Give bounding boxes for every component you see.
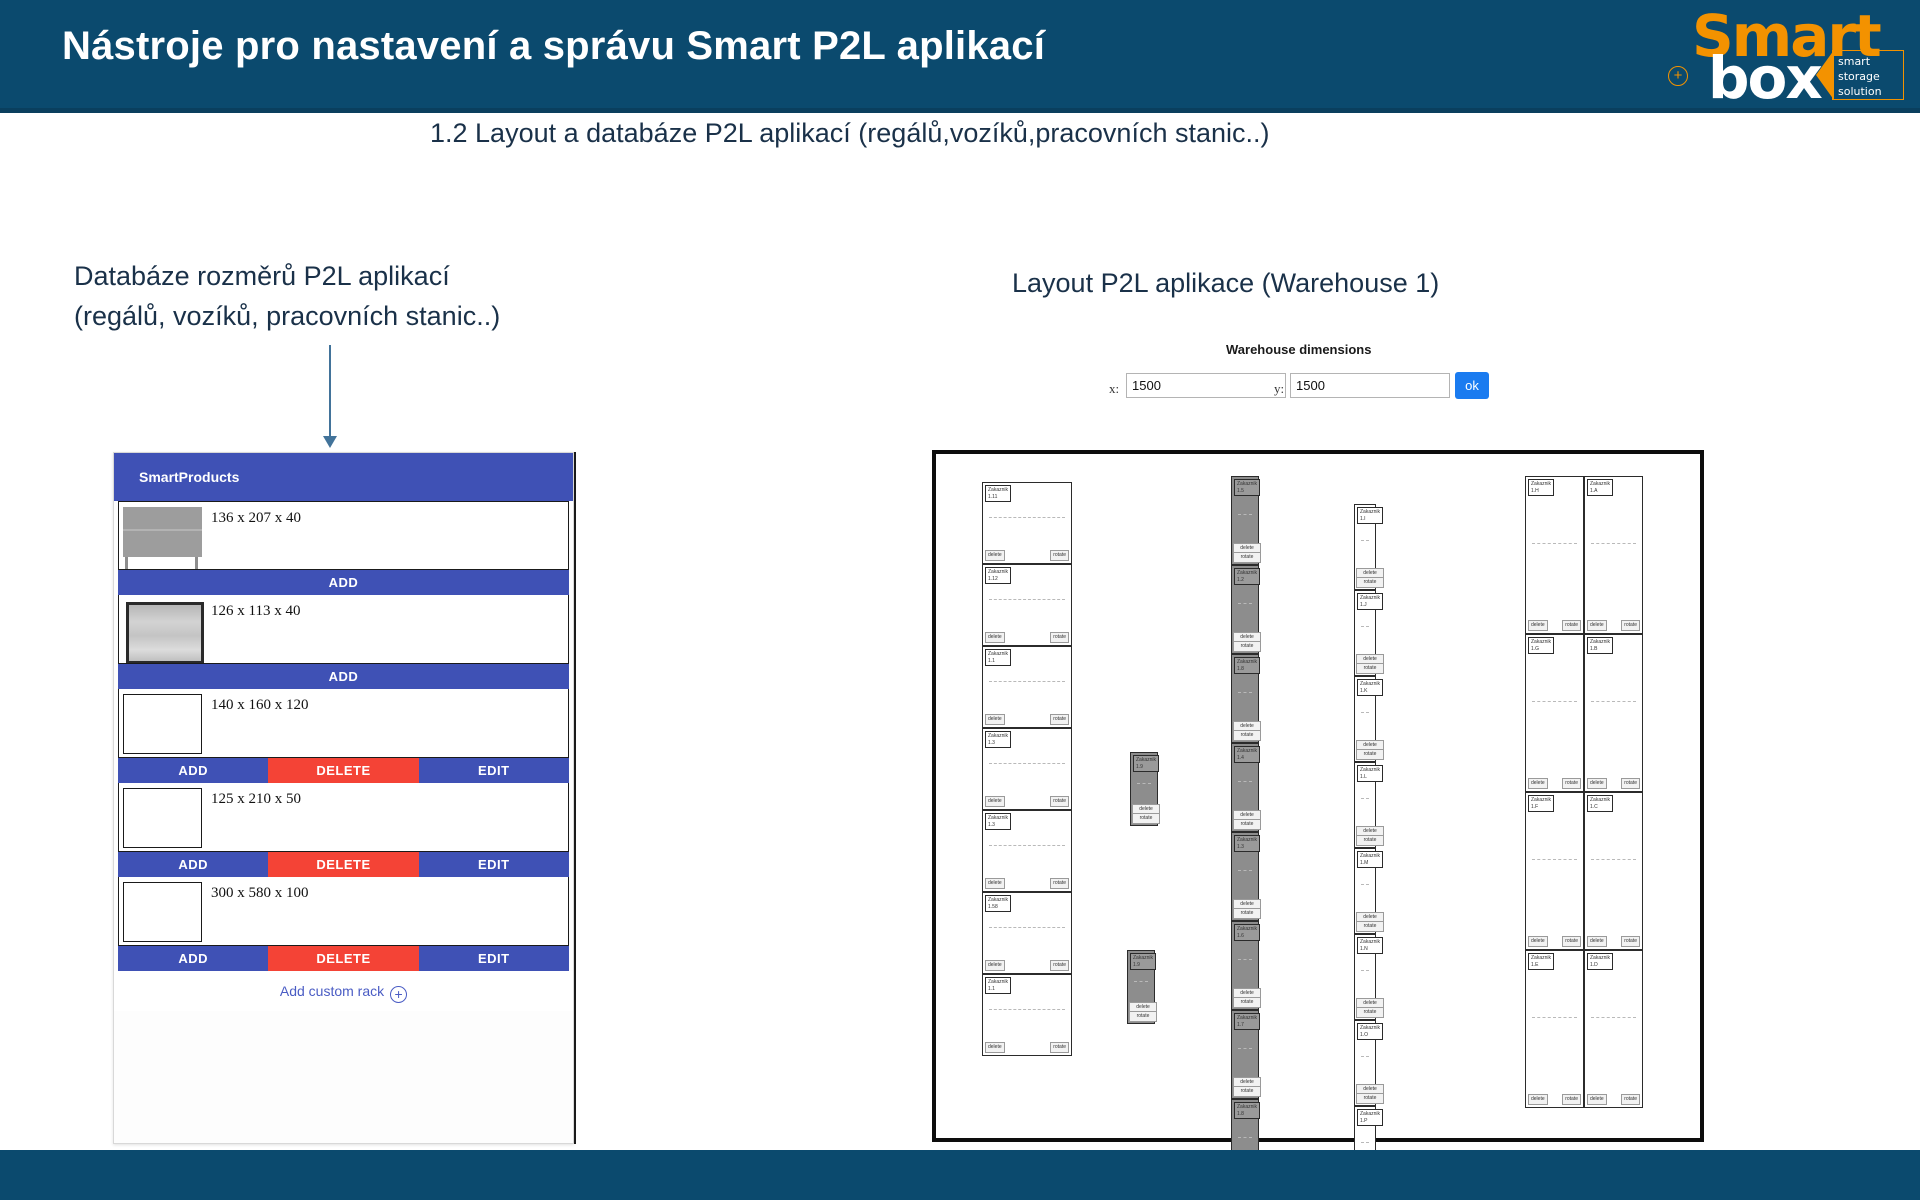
rack-delete-button[interactable]: delete	[1528, 936, 1548, 947]
arrow-connector-line	[329, 345, 331, 440]
rack-delete-button[interactable]: delete	[985, 714, 1005, 725]
rack-rotate-button[interactable]: rotate	[1356, 921, 1384, 932]
rack-rotate-button[interactable]: rotate	[1050, 960, 1069, 971]
rack-label: Zakaznik 1.58	[985, 895, 1011, 912]
rack-label: Zakaznik 1.6	[1234, 924, 1260, 941]
rack-label: Zakaznik 1.8	[1234, 1102, 1260, 1119]
product-add-button[interactable]: ADD	[118, 664, 569, 689]
rack-shelf-line	[1238, 514, 1252, 515]
rack-label: Zakaznik 1.E	[1528, 953, 1554, 970]
rack-delete-button[interactable]: delete	[985, 1042, 1005, 1053]
page-title: Nástroje pro nastavení a správu Smart P2…	[62, 24, 1045, 69]
column-1-left-racks[interactable]: Zakaznik 1.11deleterotateZakaznik 1.12de…	[982, 482, 1072, 1056]
warehouse-x-input[interactable]	[1126, 373, 1286, 398]
rack-shelf-line	[1361, 884, 1369, 885]
rack-shelf-line	[1532, 543, 1577, 544]
warehouse-rack[interactable]: Zakaznik 1.Fdeleterotate	[1525, 792, 1584, 950]
warehouse-rack[interactable]: Zakaznik 1.Jdeleterotate	[1354, 590, 1376, 676]
rack-rotate-button[interactable]: rotate	[1621, 778, 1640, 789]
warehouse-rack[interactable]: Zakaznik 1.58deleterotate	[982, 892, 1072, 974]
product-add-button[interactable]: ADD	[118, 570, 569, 595]
rack-rotate-button[interactable]: rotate	[1050, 1042, 1069, 1053]
rack-rotate-button[interactable]: rotate	[1233, 730, 1261, 741]
warehouse-ok-button[interactable]: ok	[1455, 372, 1489, 399]
product-del-button[interactable]: DELETE	[268, 852, 418, 877]
rack-label: Zakaznik 1.A	[1587, 479, 1613, 496]
rack-shelf-line	[1238, 1137, 1252, 1138]
warehouse-rack[interactable]: Zakaznik 1.8deleterotate	[1231, 654, 1259, 743]
rack-label: Zakaznik 1.7	[1234, 1013, 1260, 1030]
rack-label: Zakaznik 1.N	[1357, 937, 1383, 954]
header-accent-bar	[0, 108, 1920, 113]
rack-rotate-button[interactable]: rotate	[1233, 819, 1261, 830]
product-del-button[interactable]: DELETE	[268, 946, 418, 971]
warehouse-rack[interactable]: Zakaznik 1.7deleterotate	[1231, 1010, 1259, 1099]
warehouse-rack[interactable]: Zakaznik 1.1deleterotate	[982, 646, 1072, 728]
rack-shelf-line	[1361, 1142, 1369, 1143]
rack-label: Zakaznik 1.B	[1587, 637, 1613, 654]
rack-shelf-line	[989, 517, 1065, 518]
rack-rotate-button[interactable]: rotate	[1129, 1011, 1157, 1022]
warehouse-rack[interactable]: Zakaznik 1.Mdeleterotate	[1354, 848, 1376, 934]
product-dimensions: 300 x 580 x 100	[211, 885, 309, 902]
rack-shelf-line	[1591, 543, 1636, 544]
warehouse-rack[interactable]: Zakaznik 1.Gdeleterotate	[1525, 634, 1584, 792]
rack-shelf-line	[1532, 859, 1577, 860]
product-edit-button[interactable]: EDIT	[419, 758, 569, 783]
warehouse-y-input[interactable]	[1290, 373, 1450, 398]
section-subtitle: 1.2 Layout a databáze P2L aplikací (regá…	[430, 118, 1270, 149]
rack-label: Zakaznik 1.11	[985, 485, 1011, 502]
rack-shelf-line	[1361, 626, 1369, 627]
rack-shelf-line	[1361, 1056, 1369, 1057]
product-row: 136 x 207 x 40	[118, 501, 569, 570]
rack-label: Zakaznik 1.L	[1357, 765, 1383, 782]
product-edit-button[interactable]: EDIT	[419, 946, 569, 971]
logo-box-text: box	[1708, 44, 1821, 112]
warehouse-rack[interactable]: Zakaznik 1.11deleterotate	[982, 482, 1072, 564]
rack-rotate-button[interactable]: rotate	[1562, 778, 1581, 789]
rack-rotate-button[interactable]: rotate	[1621, 936, 1640, 947]
product-button-row: ADD	[118, 664, 569, 689]
warehouse-rack[interactable]: Zakaznik 1.4deleterotate	[1231, 743, 1259, 832]
warehouse-rack[interactable]: Zakaznik 1.2deleterotate	[1231, 565, 1259, 654]
product-row: 125 x 210 x 50	[118, 783, 569, 852]
rack-delete-button[interactable]: delete	[985, 796, 1005, 807]
panel-divider	[574, 452, 576, 1144]
warehouse-x-label: x:	[1109, 381, 1119, 397]
rack-rotate-button[interactable]: rotate	[1356, 749, 1384, 760]
rack-shelf-line	[1238, 781, 1252, 782]
rack-label: Zakaznik 1.3	[1234, 835, 1260, 852]
column-3-grey-tall[interactable]: Zakaznik 1.5deleterotateZakaznik 1.2dele…	[1231, 476, 1259, 1188]
slide-root: Nástroje pro nastavení a správu Smart P2…	[0, 0, 1920, 1200]
rack-rotate-button[interactable]: rotate	[1562, 1094, 1581, 1105]
rack-shelf-line	[1238, 692, 1252, 693]
rack-delete-button[interactable]: delete	[985, 632, 1005, 643]
rack-label: Zakaznik 1.M	[1357, 851, 1383, 868]
warehouse-rack[interactable]: Zakaznik 1.3deleterotate	[982, 728, 1072, 810]
rack-shelf-line	[989, 763, 1065, 764]
product-add-button[interactable]: ADD	[118, 946, 268, 971]
rack-shelf-line	[1591, 701, 1636, 702]
rack-delete-button[interactable]: delete	[1587, 1094, 1607, 1105]
right-caption: Layout P2L aplikace (Warehouse 1)	[1012, 268, 1439, 299]
warehouse-rack[interactable]: Zakaznik 1.Ndeleterotate	[1354, 934, 1376, 1020]
rack-shelf-line	[989, 599, 1065, 600]
rack-rotate-button[interactable]: rotate	[1356, 1007, 1384, 1018]
rack-rotate-button[interactable]: rotate	[1050, 632, 1069, 643]
rack-label: Zakaznik 1.1	[985, 649, 1011, 666]
product-dimensions: 125 x 210 x 50	[211, 791, 301, 808]
left-caption: Databáze rozměrů P2L aplikací (regálů, v…	[74, 256, 500, 336]
rack-rotate-button[interactable]: rotate	[1233, 908, 1261, 919]
rack-rotate-button[interactable]: rotate	[1356, 835, 1384, 846]
rack-label: Zakaznik 1.8	[1234, 657, 1260, 674]
rack-label: Zakaznik 1.F	[1528, 795, 1554, 812]
smartbox-logo: Smart box + smart storage solution	[1660, 4, 1910, 108]
rack-shelf-line	[989, 845, 1065, 846]
rack-label: Zakaznik 1.I	[1357, 507, 1383, 524]
slide-footer	[0, 1150, 1920, 1200]
rack-delete-button[interactable]: delete	[1587, 620, 1607, 631]
column-4-white-narrow[interactable]: Zakaznik 1.IdeleterotateZakaznik 1.Jdele…	[1354, 504, 1376, 1192]
rack-shelf-line	[1361, 798, 1369, 799]
rack-shelf-line	[1591, 1017, 1636, 1018]
product-thumbnail	[123, 694, 202, 754]
rack-label: Zakaznik 1.D	[1587, 953, 1613, 970]
warehouse-rack[interactable]: Zakaznik 1.Ldeleterotate	[1354, 762, 1376, 848]
product-thumbnail	[123, 600, 202, 660]
warehouse-rack[interactable]: Zakaznik 1.5deleterotate	[1231, 476, 1259, 565]
smartproducts-panel-title: SmartProducts	[114, 453, 573, 501]
rack-rotate-button[interactable]: rotate	[1356, 577, 1384, 588]
left-caption-line1: Databáze rozměrů P2L aplikací	[74, 256, 500, 296]
add-custom-rack-button[interactable]: Add custom rack+	[114, 971, 573, 1011]
product-dimensions: 136 x 207 x 40	[211, 510, 301, 527]
rack-label: Zakaznik 1.K	[1357, 679, 1383, 696]
logo-tagline: smart storage solution	[1832, 50, 1904, 100]
rack-shelf-line	[1361, 540, 1369, 541]
warehouse-rack[interactable]: Zakaznik 1.9deleterotate	[1130, 752, 1158, 826]
product-row: 126 x 113 x 40	[118, 595, 569, 664]
rack-shelf-line	[1532, 701, 1577, 702]
add-custom-rack-label: Add custom rack	[280, 983, 384, 999]
warehouse-rack[interactable]: Zakaznik 1.Odeleterotate	[1354, 1020, 1376, 1106]
rack-rotate-button[interactable]: rotate	[1050, 796, 1069, 807]
column-5-large-left[interactable]: Zakaznik 1.HdeleterotateZakaznik 1.Gdele…	[1525, 476, 1584, 1108]
warehouse-rack[interactable]: Zakaznik 1.Kdeleterotate	[1354, 676, 1376, 762]
rack-delete-button[interactable]: delete	[1528, 778, 1548, 789]
product-dimensions: 140 x 160 x 120	[211, 697, 309, 714]
product-thumbnail	[123, 882, 202, 942]
rack-rotate-button[interactable]: rotate	[1050, 714, 1069, 725]
rack-shelf-line	[1137, 783, 1151, 784]
rack-delete-button[interactable]: delete	[985, 878, 1005, 889]
rack-rotate-button[interactable]: rotate	[1562, 936, 1581, 947]
rack-delete-button[interactable]: delete	[1587, 936, 1607, 947]
product-thumbnail	[123, 507, 202, 567]
rack-rotate-button[interactable]: rotate	[1050, 878, 1069, 889]
rack-rotate-button[interactable]: rotate	[1132, 813, 1160, 824]
product-row: 300 x 580 x 100	[118, 877, 569, 946]
rack-shelf-line	[1361, 712, 1369, 713]
warehouse-y-label: y:	[1274, 381, 1284, 397]
rack-rotate-button[interactable]: rotate	[1233, 997, 1261, 1008]
rack-rotate-button[interactable]: rotate	[1233, 552, 1261, 563]
rack-shelf-line	[1591, 859, 1636, 860]
rack-label: Zakaznik 1.12	[985, 567, 1011, 584]
rack-shelf-line	[1134, 981, 1148, 982]
warehouse-layout-canvas[interactable]: Zakaznik 1.11deleterotateZakaznik 1.12de…	[932, 450, 1704, 1142]
rack-shelf-line	[989, 1009, 1065, 1010]
logo-plus-icon: +	[1668, 66, 1688, 86]
product-thumbnail	[123, 788, 202, 848]
rack-label: Zakaznik 1.5	[1234, 479, 1260, 496]
rack-rotate-button[interactable]: rotate	[1621, 1094, 1640, 1105]
rack-shelf-line	[1238, 870, 1252, 871]
rack-label: Zakaznik 1.2	[1234, 568, 1260, 585]
product-button-row: ADDDELETEEDIT	[118, 758, 569, 783]
warehouse-dimensions-title: Warehouse dimensions	[1226, 342, 1371, 357]
warehouse-rack[interactable]: Zakaznik 1.6deleterotate	[1231, 921, 1259, 1010]
rack-label: Zakaznik 1.3	[985, 813, 1011, 830]
rack-delete-button[interactable]: delete	[1587, 778, 1607, 789]
rack-delete-button[interactable]: delete	[1528, 620, 1548, 631]
product-button-row: ADDDELETEEDIT	[118, 946, 569, 971]
rack-rotate-button[interactable]: rotate	[1356, 1093, 1384, 1104]
rack-shelf-line	[1238, 1048, 1252, 1049]
warehouse-rack[interactable]: Zakaznik 1.Cdeleterotate	[1584, 792, 1643, 950]
rack-label: Zakaznik 1.J	[1357, 593, 1383, 610]
slide-header: Nástroje pro nastavení a správu Smart P2…	[0, 0, 1920, 113]
rack-delete-button[interactable]: delete	[1528, 1094, 1548, 1105]
warehouse-rack[interactable]: Zakaznik 1.9deleterotate	[1127, 950, 1155, 1024]
rack-label: Zakaznik 1.O	[1357, 1023, 1383, 1040]
rack-rotate-button[interactable]: rotate	[1050, 550, 1069, 561]
rack-label: Zakaznik 1.9	[1130, 953, 1156, 970]
warehouse-rack[interactable]: Zakaznik 1.Ideleterotate	[1354, 504, 1376, 590]
warehouse-rack[interactable]: Zakaznik 1.3deleterotate	[1231, 832, 1259, 921]
product-add-button[interactable]: ADD	[118, 852, 268, 877]
rack-rotate-button[interactable]: rotate	[1356, 663, 1384, 674]
rack-shelf-line	[1532, 1017, 1577, 1018]
rack-label: Zakaznik 1.4	[1234, 746, 1260, 763]
rack-rotate-button[interactable]: rotate	[1233, 641, 1261, 652]
product-row: 140 x 160 x 120	[118, 689, 569, 758]
product-dimensions: 126 x 113 x 40	[211, 603, 300, 620]
left-caption-line2: (regálů, vozíků, pracovních stanic..)	[74, 296, 500, 336]
rack-shelf-line	[1238, 959, 1252, 960]
rack-label: Zakaznik 1.C	[1587, 795, 1613, 812]
rack-delete-button[interactable]: delete	[985, 960, 1005, 971]
rack-rotate-button[interactable]: rotate	[1621, 620, 1640, 631]
warehouse-rack[interactable]: Zakaznik 1.Edeleterotate	[1525, 950, 1584, 1108]
rack-rotate-button[interactable]: rotate	[1562, 620, 1581, 631]
plus-circle-icon: +	[390, 986, 407, 1003]
smartproducts-list: 136 x 207 x 40ADD126 x 113 x 40ADD140 x …	[114, 501, 573, 971]
warehouse-rack[interactable]: Zakaznik 1.3deleterotate	[982, 810, 1072, 892]
product-edit-button[interactable]: EDIT	[419, 852, 569, 877]
rack-label: Zakaznik 1.3	[985, 731, 1011, 748]
rack-shelf-line	[1238, 603, 1252, 604]
warehouse-rack[interactable]: Zakaznik 1.Hdeleterotate	[1525, 476, 1584, 634]
arrow-connector-head-icon	[323, 436, 337, 448]
product-add-button[interactable]: ADD	[118, 758, 268, 783]
column-6-large-right[interactable]: Zakaznik 1.AdeleterotateZakaznik 1.Bdele…	[1584, 476, 1643, 1108]
warehouse-rack[interactable]: Zakaznik 1.Ddeleterotate	[1584, 950, 1643, 1108]
warehouse-rack[interactable]: Zakaznik 1.Bdeleterotate	[1584, 634, 1643, 792]
warehouse-rack[interactable]: Zakaznik 1.Adeleterotate	[1584, 476, 1643, 634]
rack-label: Zakaznik 1.9	[1133, 755, 1159, 772]
rack-delete-button[interactable]: delete	[985, 550, 1005, 561]
rack-shelf-line	[1361, 970, 1369, 971]
warehouse-rack[interactable]: Zakaznik 1.1deleterotate	[982, 974, 1072, 1056]
column-2b-small-grey[interactable]: Zakaznik 1.9deleterotate	[1127, 950, 1155, 1024]
product-del-button[interactable]: DELETE	[268, 758, 418, 783]
product-button-row: ADD	[118, 570, 569, 595]
rack-rotate-button[interactable]: rotate	[1233, 1086, 1261, 1097]
rack-label: Zakaznik 1.1	[985, 977, 1011, 994]
product-button-row: ADDDELETEEDIT	[118, 852, 569, 877]
column-2-small-grey[interactable]: Zakaznik 1.9deleterotate	[1130, 752, 1158, 826]
rack-shelf-line	[989, 681, 1065, 682]
rack-label: Zakaznik 1.G	[1528, 637, 1554, 654]
smartproducts-panel: SmartProducts 136 x 207 x 40ADD126 x 113…	[113, 452, 574, 1144]
rack-label: Zakaznik 1.H	[1528, 479, 1554, 496]
rack-label: Zakaznik 1.P	[1357, 1109, 1383, 1126]
warehouse-rack[interactable]: Zakaznik 1.12deleterotate	[982, 564, 1072, 646]
warehouse-layout-inner: Zakaznik 1.11deleterotateZakaznik 1.12de…	[936, 454, 1700, 1138]
rack-shelf-line	[989, 927, 1065, 928]
